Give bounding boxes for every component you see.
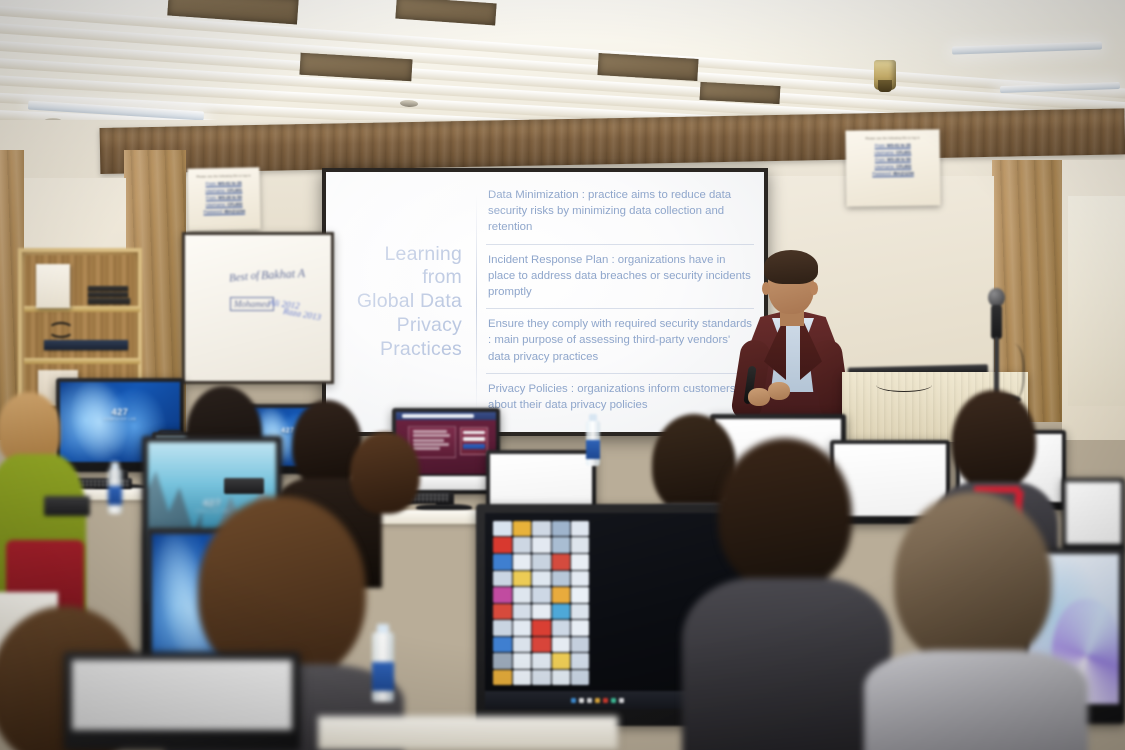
signature: Bakhat A	[261, 266, 306, 283]
slide-title-block: Learning from Global Data Privacy Practi…	[326, 172, 474, 432]
notice-line: Username: CFL601	[851, 150, 935, 156]
notice-line: Password: IBA@1234	[193, 209, 255, 215]
desk	[318, 716, 618, 750]
signature: Best of	[228, 269, 259, 284]
slide-title-line: from	[357, 266, 462, 290]
slide-bullet: Incident Response Plan : organizations h…	[486, 244, 754, 309]
notice-line: From: WS-26 to 50	[193, 195, 255, 201]
notice-line: Username: CFL602	[851, 164, 935, 170]
book	[88, 292, 128, 297]
slide-title-line: Learning	[357, 243, 462, 267]
ceiling-vent	[700, 82, 781, 104]
ceiling-vent	[597, 53, 698, 81]
computer-tower	[44, 496, 90, 516]
audience-member-foreground	[880, 492, 1070, 750]
podium-cable	[876, 378, 932, 392]
equipment-box	[44, 340, 128, 350]
water-bottle	[372, 632, 394, 702]
presenter-hair	[764, 250, 818, 284]
signature: Raza 2013	[282, 306, 321, 322]
book	[88, 286, 128, 291]
username-field[interactable]	[463, 431, 485, 435]
password-field[interactable]	[463, 437, 485, 441]
water-bottle	[586, 420, 600, 466]
person-head	[952, 390, 1036, 490]
person-head	[894, 492, 1052, 666]
notice-line: Password: IBA@1234	[851, 171, 935, 177]
workstation-label: 427 COMPUTER LAB	[104, 407, 136, 421]
person-torso	[864, 650, 1088, 750]
presentation-slide: Learning from Global Data Privacy Practi…	[326, 172, 764, 432]
slide-vertical-divider	[476, 192, 477, 414]
window-light	[1068, 196, 1125, 406]
computer-tower	[224, 478, 264, 494]
monitor	[1062, 478, 1125, 552]
presenter-ear	[762, 282, 770, 295]
notice-line: Username: CFL602	[193, 202, 255, 208]
presenter-hand	[748, 388, 770, 406]
slide-bullet: Data Minimization : practice aims to red…	[486, 184, 754, 244]
cable-bundle	[48, 322, 74, 338]
notice-line: Username: CFL601	[193, 187, 255, 193]
ceiling-light	[952, 41, 1102, 54]
notice-heading: Please use the following IDs to log in	[851, 135, 935, 140]
notice-heading: Please use the following IDs to log in	[192, 173, 254, 178]
fire-alarm-icon	[874, 60, 896, 90]
slide-title: Learning from Global Data Privacy Practi…	[357, 243, 462, 362]
slide-title-line: Practices	[357, 338, 462, 362]
login-credentials-notice-right: Please use the following IDs to log in F…	[845, 129, 940, 206]
book	[88, 298, 130, 304]
notice-line: From: WS-01 to 25	[851, 142, 935, 148]
person-torso	[682, 578, 892, 750]
login-button[interactable]	[463, 444, 485, 448]
person-head	[718, 438, 852, 590]
projection-screen: Learning from Global Data Privacy Practi…	[322, 168, 768, 436]
laptop	[64, 652, 300, 750]
slide-title-line: Global Data	[357, 290, 462, 314]
slide-bullet: Ensure they comply with required securit…	[486, 308, 754, 373]
presenter-ear	[810, 282, 818, 295]
notice-line: From: WS-01 to 25	[193, 180, 255, 186]
classroom-scene: Learning from Global Data Privacy Practi…	[0, 0, 1125, 750]
login-credentials-notice-left: Please use the following IDs to log in F…	[187, 167, 260, 230]
slide-bullet-list: Data Minimization : practice aims to red…	[474, 172, 764, 432]
slide-title-line: Privacy	[357, 314, 462, 338]
water-bottle	[108, 468, 122, 514]
signature: Mohamed	[230, 297, 274, 311]
whiteboard: Best of Bakhat A Mohamed Ali 2012 Raza 2…	[182, 232, 334, 384]
ceiling-vent	[395, 0, 496, 25]
document-on-shelf	[36, 264, 70, 308]
audience-member-foreground	[700, 438, 870, 750]
presenter-hand	[768, 382, 790, 400]
desktop-icon-grid[interactable]	[493, 521, 589, 686]
notice-line: From: WS-26 to 50	[851, 157, 935, 163]
